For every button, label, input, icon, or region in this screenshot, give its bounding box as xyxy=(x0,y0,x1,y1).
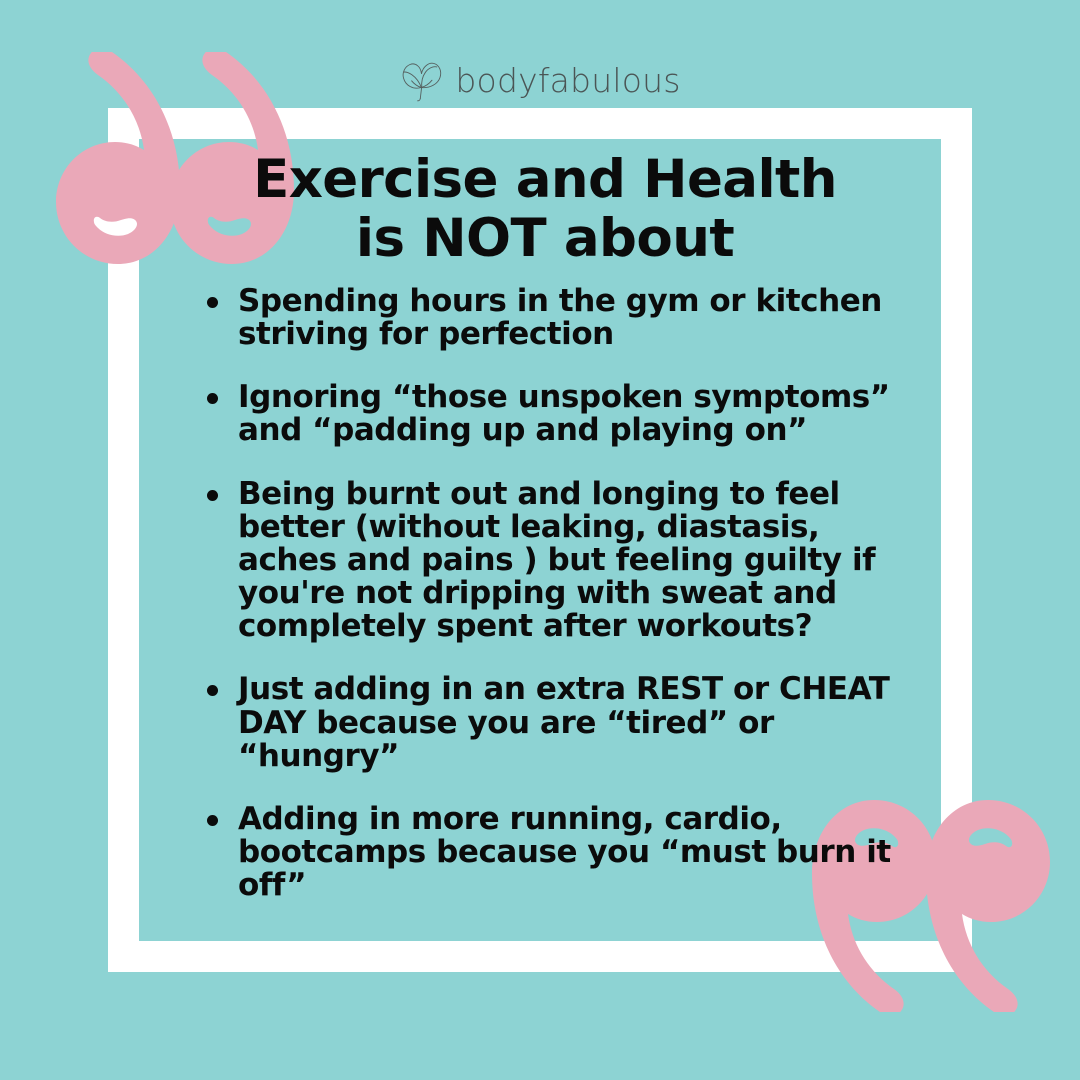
list-item: Just adding in an extra REST or CHEAT DA… xyxy=(198,673,923,772)
butterfly-leaf-icon xyxy=(399,57,445,103)
list-item-text: Spending hours in the gym or kitchen str… xyxy=(238,285,923,351)
bullet-dot-icon xyxy=(207,490,218,501)
brand-wordmark: bodyfabulous xyxy=(455,64,680,97)
page-title: Exercise and Health is NOT about xyxy=(165,150,925,269)
list-item-text: Being burnt out and longing to feel bett… xyxy=(238,478,923,644)
bullet-list: Spending hours in the gym or kitchen str… xyxy=(198,285,923,902)
bullet-dot-icon xyxy=(207,815,218,826)
list-item-text: Just adding in an extra REST or CHEAT DA… xyxy=(238,673,923,772)
poster-canvas: bodyfabulous Exercise and Health is NO xyxy=(0,0,1080,1080)
list-item: Ignoring “those unspoken symptoms” and “… xyxy=(198,381,923,447)
bullet-dot-icon xyxy=(207,685,218,696)
bullet-dot-icon xyxy=(207,297,218,308)
bullet-dot-icon xyxy=(207,393,218,404)
list-item: Being burnt out and longing to feel bett… xyxy=(198,478,923,644)
list-item: Spending hours in the gym or kitchen str… xyxy=(198,285,923,351)
list-item-text: Adding in more running, cardio, bootcamp… xyxy=(238,803,923,902)
list-item-text: Ignoring “those unspoken symptoms” and “… xyxy=(238,381,923,447)
content-area: Exercise and Health is NOT about Spendin… xyxy=(140,140,940,940)
brand-lockup: bodyfabulous xyxy=(0,52,1080,108)
list-item: Adding in more running, cardio, bootcamp… xyxy=(198,803,923,902)
